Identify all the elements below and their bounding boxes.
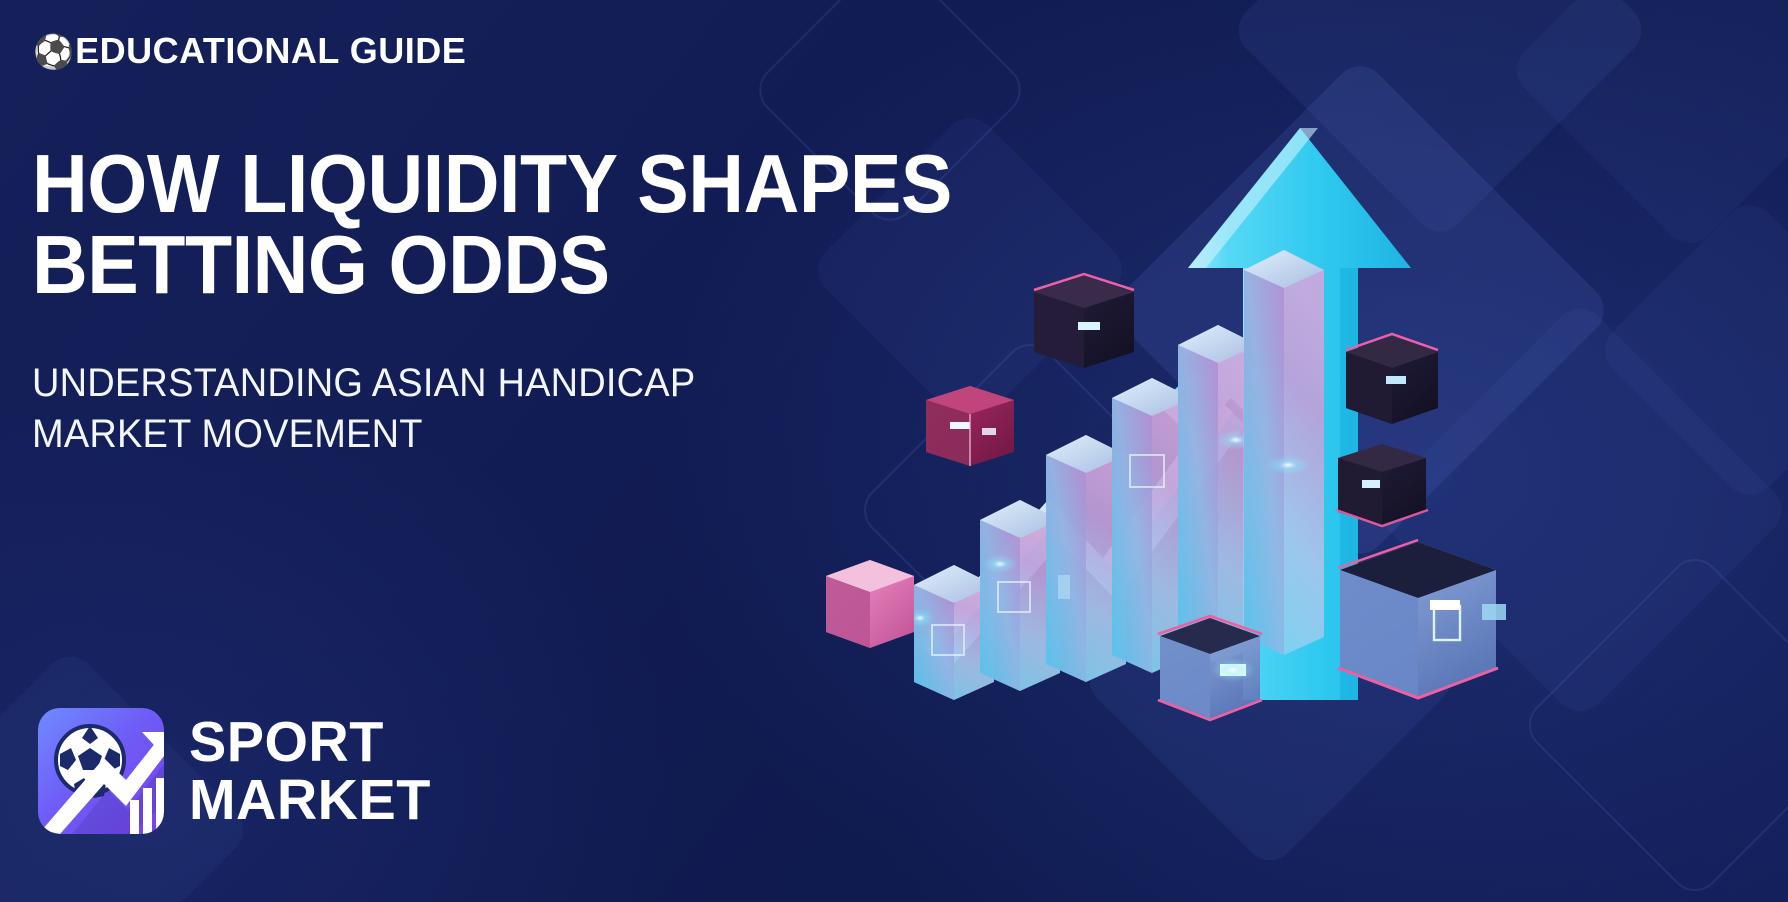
cube-dark-right-lower	[1336, 444, 1428, 526]
page-title: HOW LIQUIDITY SHAPES BETTING ODDS	[32, 143, 1018, 306]
bar-6	[1244, 250, 1324, 655]
cube-glass-bottom	[1158, 616, 1262, 720]
sport-market-logo-mark	[38, 708, 164, 834]
kicker: ⚽ EDUCATIONAL GUIDE	[33, 33, 466, 69]
sport-market-logo[interactable]: SPORT MARKET	[38, 708, 436, 834]
subhead-line-2: MARKET MOVEMENT	[32, 409, 887, 460]
cube-dark-top	[1034, 274, 1134, 368]
headline-line-1: HOW LIQUIDITY SHAPES	[32, 143, 1018, 224]
subhead-line-1: UNDERSTANDING ASIAN HANDICAP	[32, 358, 887, 409]
soccer-ball-icon: ⚽	[33, 35, 74, 68]
page-subtitle: UNDERSTANDING ASIAN HANDICAP MARKET MOVE…	[32, 358, 887, 460]
banner-root: ⚽ EDUCATIONAL GUIDE HOW LIQUIDITY SHAPES…	[0, 0, 1788, 902]
headline-line-2: BETTING ODDS	[32, 224, 1018, 305]
kicker-label: EDUCATIONAL GUIDE	[75, 33, 466, 69]
growth-chart-3d-illustration	[888, 0, 1788, 902]
logo-name-line-1: SPORT	[189, 713, 431, 771]
logo-wordmark: SPORT MARKET	[189, 713, 431, 829]
logo-name-line-2: MARKET	[189, 771, 431, 829]
cube-glass-right-large	[1338, 540, 1506, 698]
cube-pink-left	[826, 560, 914, 648]
cube-magenta-mid	[926, 386, 1014, 466]
cube-dark-right-upper	[1346, 334, 1438, 424]
